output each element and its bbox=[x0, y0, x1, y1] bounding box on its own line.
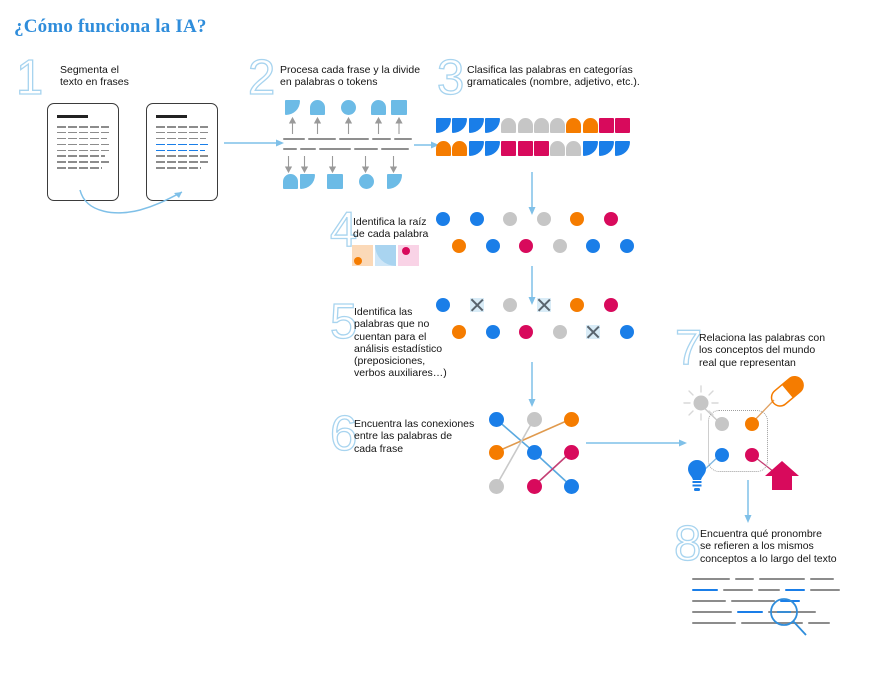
word-dot bbox=[553, 239, 567, 253]
concept-dot-blue bbox=[715, 448, 729, 462]
token-shape bbox=[283, 174, 298, 189]
graph-node-dot bbox=[527, 445, 542, 460]
graph-node-dot bbox=[564, 445, 579, 460]
step-1: 1 Segmenta el texto en frases bbox=[16, 58, 226, 88]
word-dot bbox=[503, 212, 517, 226]
step-6-text: Encuentra las conexiones entre las palab… bbox=[354, 418, 504, 455]
step-6: 6 Encuentra las conexiones entre las pal… bbox=[330, 412, 500, 462]
step-7-text: Relaciona las palabras con los conceptos… bbox=[699, 332, 879, 369]
text-line-segment bbox=[692, 589, 718, 591]
token-shape bbox=[550, 118, 565, 133]
text-line-segment bbox=[692, 600, 726, 602]
token-shape bbox=[518, 118, 533, 133]
token-shape bbox=[599, 141, 614, 156]
swatch-pink bbox=[398, 245, 419, 266]
text-line-segment bbox=[723, 589, 753, 591]
text-line-segment bbox=[692, 578, 730, 580]
up-arrows-icon bbox=[283, 118, 413, 134]
excluded-word-mark bbox=[470, 298, 484, 312]
house-icon bbox=[764, 460, 800, 492]
token-shape bbox=[583, 118, 598, 133]
arrow-step5-to-step6 bbox=[527, 362, 537, 408]
document-link-curve bbox=[78, 188, 188, 218]
token-shape bbox=[501, 141, 516, 156]
token-shape bbox=[583, 141, 598, 156]
graph-node-dot bbox=[527, 479, 542, 494]
text-line-segment bbox=[759, 578, 805, 580]
word-dot bbox=[537, 212, 551, 226]
graph-node-dot bbox=[527, 412, 542, 427]
text-line-segment bbox=[692, 611, 732, 613]
classified-tokens-grid bbox=[436, 118, 636, 162]
infographic-canvas: ¿Cómo funciona la IA? 1 Segmenta el text… bbox=[0, 0, 886, 690]
token-shape bbox=[452, 118, 467, 133]
token-shape bbox=[518, 141, 533, 156]
concept-mapping-diagram bbox=[678, 372, 833, 494]
text-line-segment bbox=[810, 578, 834, 580]
word-dot bbox=[586, 239, 600, 253]
graph-node-dot bbox=[489, 412, 504, 427]
step-8-number: 8 bbox=[674, 520, 701, 569]
step-8-text: Encuentra qué pronombre se refieren a lo… bbox=[700, 528, 885, 565]
concept-dot-pink bbox=[745, 448, 759, 462]
step-2-text: Procesa cada frase y la divide en palabr… bbox=[280, 64, 460, 89]
excluded-word-mark bbox=[586, 325, 600, 339]
arrow-step1-to-step2 bbox=[224, 138, 286, 148]
magnifying-glass-icon bbox=[768, 597, 812, 639]
graph-node-dot bbox=[489, 445, 504, 460]
word-dot bbox=[620, 325, 634, 339]
text-line-segment bbox=[737, 611, 763, 613]
token-shape bbox=[566, 118, 581, 133]
token-shape bbox=[452, 141, 467, 156]
text-line-segment bbox=[785, 589, 805, 591]
word-dot bbox=[486, 239, 500, 253]
word-dot bbox=[452, 325, 466, 339]
token-shape bbox=[391, 100, 407, 115]
arrow-step6-to-step7 bbox=[586, 438, 688, 448]
pill-capsule-icon bbox=[766, 374, 808, 408]
token-shape bbox=[341, 100, 356, 115]
word-dot bbox=[519, 325, 533, 339]
token-shape bbox=[469, 141, 484, 156]
step-1-text: Segmenta el texto en frases bbox=[60, 64, 220, 89]
token-shape bbox=[599, 118, 614, 133]
word-dot bbox=[604, 212, 618, 226]
word-dot bbox=[620, 239, 634, 253]
arrow-step7-to-step8 bbox=[743, 480, 753, 524]
step-3-number: 3 bbox=[437, 54, 464, 103]
graph-node-dot bbox=[564, 412, 579, 427]
text-line-segment bbox=[692, 622, 736, 624]
token-shape bbox=[534, 118, 549, 133]
page-title: ¿Cómo funciona la IA? bbox=[14, 16, 207, 38]
step-3: 3 Clasifica las palabras en categorías g… bbox=[437, 58, 667, 88]
graph-node-dot bbox=[489, 479, 504, 494]
doc-lines bbox=[57, 126, 109, 173]
step-2-number: 2 bbox=[248, 54, 275, 103]
token-shape bbox=[359, 174, 374, 189]
text-line-segment bbox=[758, 589, 780, 591]
token-shape bbox=[327, 174, 343, 189]
document-card-segmented bbox=[146, 103, 218, 201]
graph-node-dot bbox=[564, 479, 579, 494]
swatch-orange bbox=[352, 245, 373, 266]
token-shape bbox=[371, 100, 386, 115]
token-shape bbox=[310, 100, 325, 115]
arrow-step3-to-step4 bbox=[527, 172, 537, 216]
sun-icon bbox=[682, 384, 720, 422]
token-shape bbox=[485, 141, 500, 156]
down-arrows-icon bbox=[283, 156, 413, 172]
root-dots-grid bbox=[436, 212, 636, 262]
token-shape bbox=[534, 141, 549, 156]
word-dot bbox=[604, 298, 618, 312]
root-color-swatches bbox=[352, 245, 422, 269]
doc-lines bbox=[156, 126, 208, 173]
word-dot bbox=[570, 298, 584, 312]
document-card-original bbox=[47, 103, 119, 201]
step-8: 8 Encuentra qué pronombre se refieren a … bbox=[674, 522, 884, 567]
word-dot bbox=[570, 212, 584, 226]
word-dot bbox=[436, 298, 450, 312]
token-shape bbox=[566, 141, 581, 156]
tokenization-diagram bbox=[283, 100, 413, 192]
token-shape bbox=[550, 141, 565, 156]
excluded-word-mark bbox=[537, 298, 551, 312]
token-shape bbox=[615, 118, 630, 133]
token-shape bbox=[615, 141, 630, 156]
concept-dot-orange bbox=[745, 417, 759, 431]
token-shape bbox=[436, 141, 451, 156]
word-dot bbox=[553, 325, 567, 339]
swatch-blue bbox=[375, 245, 396, 266]
doc-title-bar bbox=[57, 115, 88, 118]
token-shape bbox=[501, 118, 516, 133]
doc-title-bar bbox=[156, 115, 187, 118]
lightbulb-icon bbox=[684, 458, 710, 492]
word-dot bbox=[519, 239, 533, 253]
connection-graph bbox=[485, 408, 580, 498]
word-dot bbox=[486, 325, 500, 339]
step-3-text: Clasifica las palabras en categorías gra… bbox=[467, 64, 667, 89]
token-shape bbox=[300, 174, 315, 189]
word-dot bbox=[452, 239, 466, 253]
step-2: 2 Procesa cada frase y la divide en pala… bbox=[248, 58, 448, 88]
word-dot bbox=[436, 212, 450, 226]
text-line-segment bbox=[810, 589, 840, 591]
token-shape bbox=[485, 118, 500, 133]
step-7: 7 Relaciona las palabras con los concept… bbox=[675, 326, 875, 371]
stopword-dots-grid bbox=[436, 298, 636, 348]
token-shape bbox=[436, 118, 451, 133]
token-shape bbox=[469, 118, 484, 133]
step-1-number: 1 bbox=[16, 54, 43, 103]
token-shape bbox=[387, 174, 402, 189]
token-shape bbox=[285, 100, 300, 115]
word-dot bbox=[503, 298, 517, 312]
word-dot bbox=[470, 212, 484, 226]
text-line-segment bbox=[735, 578, 754, 580]
